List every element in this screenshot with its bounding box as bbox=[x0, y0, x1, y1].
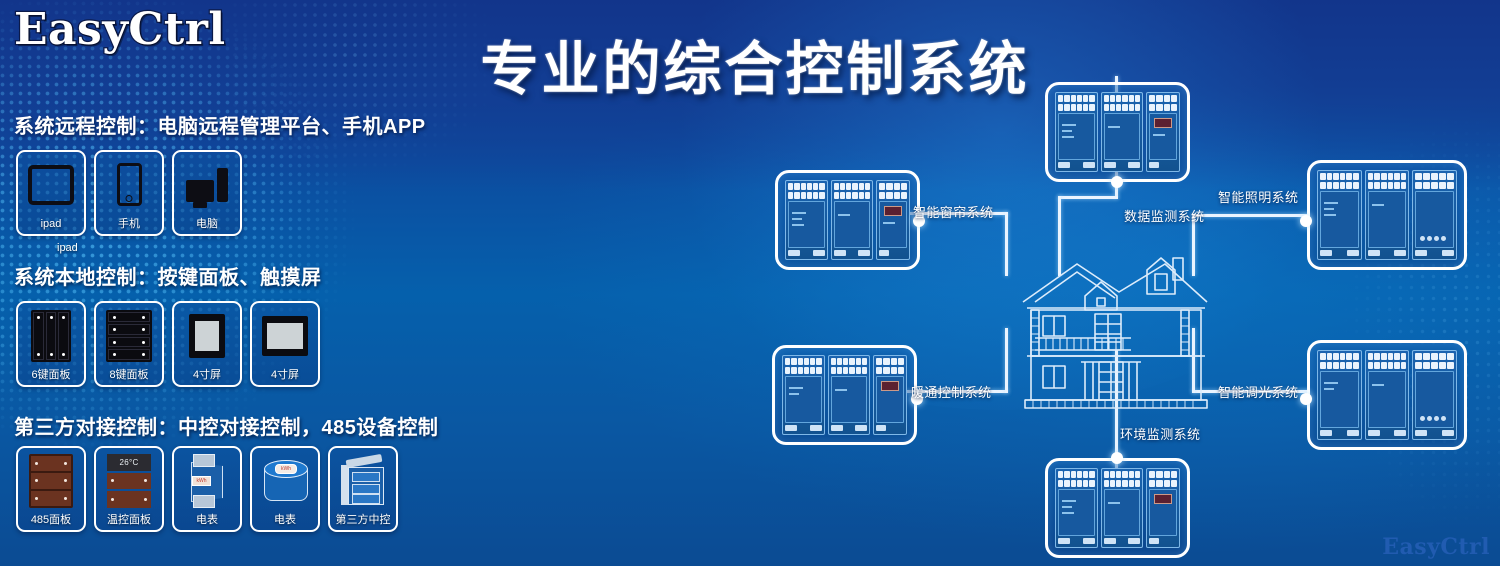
node-env bbox=[1111, 452, 1123, 464]
device-card-485-panel[interactable]: 485面板 bbox=[16, 446, 86, 532]
device-card-ipad[interactable]: ipad bbox=[16, 150, 86, 236]
label-lighting: 智能照明系统 bbox=[1218, 187, 1298, 206]
rs485-panel-icon bbox=[18, 448, 84, 514]
module-card-hvac[interactable] bbox=[772, 345, 917, 445]
din-module bbox=[785, 180, 828, 260]
section-heading-local: 系统本地控制：按键面板、触摸屏 bbox=[14, 261, 322, 290]
din-module-leds bbox=[1412, 350, 1457, 440]
device-card-thermostat-panel[interactable]: 26°C 温控面板 bbox=[94, 446, 164, 532]
brand-logo: EasyCtrl bbox=[14, 4, 226, 55]
device-card-label: 6键面板 bbox=[31, 369, 70, 381]
third-party-controller-icon bbox=[330, 448, 396, 514]
din-module bbox=[1055, 468, 1098, 548]
module-card-curtain[interactable] bbox=[775, 170, 920, 270]
label-dimming: 智能调光系统 bbox=[1218, 382, 1298, 401]
module-card-lighting[interactable] bbox=[1307, 160, 1467, 270]
din-module bbox=[1365, 170, 1410, 260]
device-card-4inch-screen-b[interactable]: 4寸屏 bbox=[250, 301, 320, 387]
round-meter-label: kWh bbox=[275, 464, 297, 474]
din-module bbox=[1101, 92, 1144, 172]
device-card-label: 电脑 bbox=[196, 218, 218, 230]
din-module bbox=[1055, 92, 1098, 172]
wire-data-joint bbox=[1058, 196, 1118, 199]
din-module bbox=[828, 355, 871, 435]
device-card-label: 电表 bbox=[196, 514, 218, 526]
node-dimming bbox=[1300, 393, 1312, 405]
wire-curtain-down bbox=[1005, 212, 1008, 276]
din-module-display bbox=[873, 355, 907, 435]
din-module bbox=[1365, 350, 1410, 440]
din-module-display bbox=[1146, 468, 1180, 548]
device-card-label: 4寸屏 bbox=[193, 369, 221, 381]
round-meter-icon: kWh bbox=[252, 448, 318, 514]
device-card-computer[interactable]: 电脑 bbox=[172, 150, 242, 236]
thermostat-panel-icon: 26°C bbox=[96, 448, 162, 514]
six-key-panel-icon bbox=[18, 303, 84, 369]
device-card-label: 485面板 bbox=[31, 514, 71, 526]
electric-meter-icon: kWh bbox=[174, 448, 240, 514]
module-card-env[interactable] bbox=[1045, 458, 1190, 558]
poster-canvas: EasyCtrl 专业的综合控制系统 系统远程控制：电脑远程管理平台、手机APP… bbox=[0, 0, 1500, 566]
din-module bbox=[1101, 468, 1144, 548]
device-card-label: 手机 bbox=[118, 218, 140, 230]
node-data bbox=[1111, 176, 1123, 188]
wire-hvac-up bbox=[1005, 328, 1008, 393]
watermark-logo: EasyCtrl bbox=[1382, 534, 1490, 560]
device-card-label: ipad bbox=[41, 218, 62, 230]
label-data: 数据监测系统 bbox=[1124, 206, 1204, 225]
device-card-meter-b[interactable]: kWh 电表 bbox=[250, 446, 320, 532]
label-env: 环境监测系统 bbox=[1120, 424, 1200, 443]
wire-lighting bbox=[1192, 214, 1310, 217]
house-illustration bbox=[1015, 252, 1215, 410]
din-module bbox=[782, 355, 825, 435]
four-inch-screen-wide-icon bbox=[252, 303, 318, 369]
din-module-display bbox=[1146, 92, 1180, 172]
device-card-third-party-controller[interactable]: 第三方中控 bbox=[328, 446, 398, 532]
node-lighting bbox=[1300, 215, 1312, 227]
din-module-display bbox=[876, 180, 910, 260]
device-card-label: 4寸屏 bbox=[271, 369, 299, 381]
module-card-dimming[interactable] bbox=[1307, 340, 1467, 450]
device-card-meter-a[interactable]: kWh 电表 bbox=[172, 446, 242, 532]
din-module bbox=[831, 180, 874, 260]
eight-key-panel-icon bbox=[96, 303, 162, 369]
desktop-computer-icon bbox=[174, 152, 240, 218]
din-module-leds bbox=[1412, 170, 1457, 260]
device-row-thirdparty: 485面板 26°C 温控面板 kWh 电表 kWh bbox=[16, 446, 398, 532]
device-card-label: 电表 bbox=[274, 514, 296, 526]
label-hvac: 暖通控制系统 bbox=[911, 382, 991, 401]
device-card-8key-panel[interactable]: 8键面板 bbox=[94, 301, 164, 387]
label-curtain: 智能窗帘系统 bbox=[913, 202, 993, 221]
module-card-data[interactable] bbox=[1045, 82, 1190, 182]
din-module bbox=[1317, 350, 1362, 440]
device-row-local: 6键面板 8键面板 4寸屏 4寸屏 bbox=[16, 301, 320, 387]
ipad-sub-caption: ipad bbox=[57, 242, 78, 254]
device-row-remote: ipad 手机 电脑 bbox=[16, 150, 242, 236]
device-card-6key-panel[interactable]: 6键面板 bbox=[16, 301, 86, 387]
device-card-label: 8键面板 bbox=[109, 369, 148, 381]
device-card-phone[interactable]: 手机 bbox=[94, 150, 164, 236]
device-card-label: 第三方中控 bbox=[336, 514, 391, 526]
smartphone-icon bbox=[96, 152, 162, 218]
din-module bbox=[1317, 170, 1362, 260]
device-card-4inch-screen-a[interactable]: 4寸屏 bbox=[172, 301, 242, 387]
section-heading-thirdparty: 第三方对接控制：中控对接控制，485设备控制 bbox=[14, 411, 438, 440]
tablet-icon bbox=[18, 152, 84, 218]
thermostat-display-value: 26°C bbox=[107, 454, 151, 471]
four-inch-screen-icon bbox=[174, 303, 240, 369]
section-heading-remote: 系统远程控制：电脑远程管理平台、手机APP bbox=[14, 110, 426, 139]
device-card-label: 温控面板 bbox=[107, 514, 151, 526]
